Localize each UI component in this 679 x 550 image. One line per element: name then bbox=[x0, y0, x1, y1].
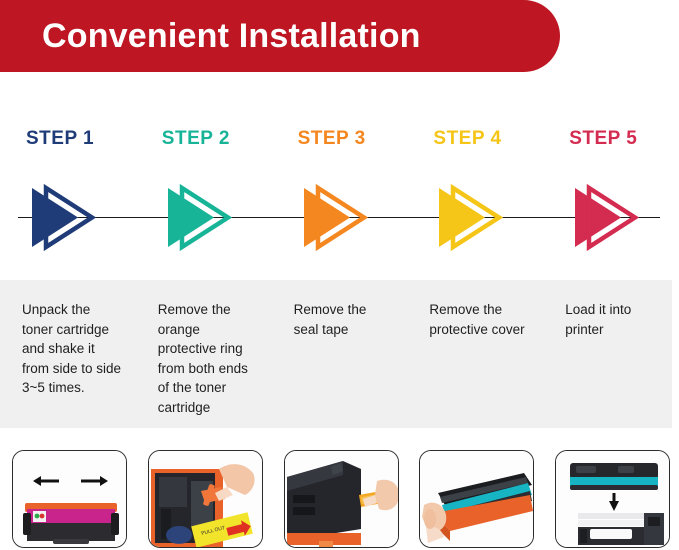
step-label-cell-1: STEP 1 bbox=[0, 122, 136, 156]
step-label-cell-4: STEP 4 bbox=[407, 122, 543, 156]
photo-load-into-printer bbox=[555, 450, 670, 548]
step-description-5: Load it into printer bbox=[565, 300, 665, 339]
arrow-cell-2 bbox=[136, 170, 272, 265]
chevron-arrow-icon-4 bbox=[427, 180, 513, 255]
photo-cell-2: PULL OUT bbox=[136, 450, 272, 550]
arrow-cell-1 bbox=[0, 170, 136, 265]
step-description-1: Unpack the toner cartridge and shake it … bbox=[22, 300, 122, 398]
description-cell-5: Load it into printer bbox=[543, 280, 679, 428]
step-label-4: STEP 4 bbox=[407, 128, 501, 150]
photo-cell-1 bbox=[0, 450, 136, 550]
step-description-2: Remove the orange protective ring from b… bbox=[158, 300, 258, 417]
step-label-1: STEP 1 bbox=[0, 128, 94, 150]
photo-cell-4 bbox=[407, 450, 543, 550]
description-cell-4: Remove the protective cover bbox=[407, 280, 543, 428]
photo-remove-protective-cover bbox=[419, 450, 534, 548]
chevron-arrow-icon-1 bbox=[20, 180, 106, 255]
step-label-2: STEP 2 bbox=[136, 128, 230, 150]
step-label-cell-2: STEP 2 bbox=[136, 122, 272, 156]
chevron-arrow-icon-2 bbox=[156, 180, 242, 255]
step-label-cell-5: STEP 5 bbox=[543, 122, 679, 156]
chevron-arrow-icon-5 bbox=[563, 180, 649, 255]
photo-remove-seal-tape bbox=[284, 450, 399, 548]
photo-cell-3 bbox=[272, 450, 408, 550]
step-label-5: STEP 5 bbox=[543, 128, 637, 150]
photo-cell-5 bbox=[543, 450, 679, 550]
descriptions-row: Unpack the toner cartridge and shake it … bbox=[0, 280, 679, 428]
description-cell-3: Remove the seal tape bbox=[272, 280, 408, 428]
step-description-3: Remove the seal tape bbox=[294, 300, 394, 339]
photo-remove-orange-ring: PULL OUT bbox=[148, 450, 263, 548]
step-label-3: STEP 3 bbox=[272, 128, 366, 150]
chevron-arrow-icon-3 bbox=[292, 180, 378, 255]
arrow-cell-5 bbox=[543, 170, 679, 265]
description-cell-2: Remove the orange protective ring from b… bbox=[136, 280, 272, 428]
page-title: Convenient Installation bbox=[42, 17, 421, 56]
step-arrow-band bbox=[0, 170, 679, 265]
step-label-cell-3: STEP 3 bbox=[272, 122, 408, 156]
step-description-4: Remove the protective cover bbox=[429, 300, 529, 339]
description-cell-1: Unpack the toner cartridge and shake it … bbox=[0, 280, 136, 428]
arrow-cell-3 bbox=[272, 170, 408, 265]
step-labels-row: STEP 1 STEP 2 STEP 3 STEP 4 STEP 5 bbox=[0, 122, 679, 156]
photo-shake-cartridge bbox=[12, 450, 127, 548]
arrow-cell-4 bbox=[407, 170, 543, 265]
photo-strip: PULL OUT bbox=[0, 450, 679, 550]
arrows-row bbox=[0, 170, 679, 265]
header-banner: Convenient Installation bbox=[0, 0, 560, 72]
